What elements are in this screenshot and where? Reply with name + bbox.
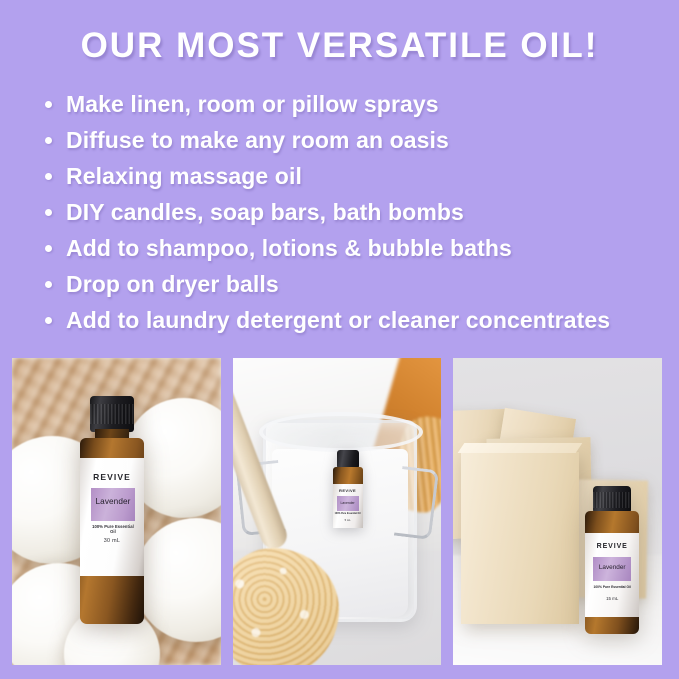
variant-swatch: Lavender bbox=[593, 557, 631, 581]
bottle-cap bbox=[593, 486, 631, 514]
list-item: Add to shampoo, lotions & bubble baths bbox=[40, 230, 670, 266]
soap-bar bbox=[461, 452, 579, 624]
list-item: Drop on dryer balls bbox=[40, 266, 670, 302]
benefits-list: Make linen, room or pillow sprays Diffus… bbox=[40, 86, 670, 338]
bottle-cap bbox=[90, 396, 134, 432]
variant-name: Lavender bbox=[91, 497, 135, 506]
bullet-dot-icon bbox=[45, 173, 52, 180]
benefit-text: Relaxing massage oil bbox=[66, 163, 302, 189]
benefit-text: Add to shampoo, lotions & bubble baths bbox=[66, 235, 512, 261]
oil-bottle-30ml: REVIVE Lavender 100% Pure Essential Oil … bbox=[78, 396, 146, 624]
list-item: Make linen, room or pillow sprays bbox=[40, 86, 670, 122]
benefit-text: DIY candles, soap bars, bath bombs bbox=[66, 199, 464, 225]
list-item: DIY candles, soap bars, bath bombs bbox=[40, 194, 670, 230]
bottle-label: REVIVE Lavender 100% Pure Essential Oil … bbox=[333, 484, 363, 528]
product-photo-strip: REVIVE Lavender 100% Pure Essential Oil … bbox=[12, 358, 662, 665]
list-item: Relaxing massage oil bbox=[40, 158, 670, 194]
jar-rim bbox=[259, 412, 423, 452]
bullet-dot-icon bbox=[45, 101, 52, 108]
list-item: Add to laundry detergent or cleaner conc… bbox=[40, 302, 670, 338]
benefit-text: Make linen, room or pillow sprays bbox=[66, 91, 439, 117]
brand-name: REVIVE bbox=[585, 543, 639, 550]
purity-text: 100% Pure Essential Oil bbox=[89, 524, 137, 534]
photo-dryer-balls: REVIVE Lavender 100% Pure Essential Oil … bbox=[12, 358, 221, 665]
brand-name: REVIVE bbox=[333, 488, 363, 493]
size-text: 5 mL bbox=[333, 519, 363, 522]
list-item: Diffuse to make any room an oasis bbox=[40, 122, 670, 158]
bullet-dot-icon bbox=[45, 209, 52, 216]
bullet-dot-icon bbox=[45, 137, 52, 144]
page-title: OUR MOST VERSATILE OIL! bbox=[0, 26, 679, 66]
brand-name: REVIVE bbox=[80, 472, 144, 482]
purity-text: 100% Pure Essential Oil bbox=[591, 585, 633, 589]
variant-name: Lavender bbox=[337, 501, 359, 505]
oil-bottle-15ml: REVIVE Lavender 100% Pure Essential Oil … bbox=[585, 486, 639, 634]
photo-bath-salt-jar: REVIVE Lavender 100% Pure Essential Oil … bbox=[233, 358, 442, 665]
bottle-label: REVIVE Lavender 100% Pure Essential Oil … bbox=[585, 533, 639, 617]
benefit-text: Diffuse to make any room an oasis bbox=[66, 127, 449, 153]
bottle-label: REVIVE Lavender 100% Pure Essential Oil … bbox=[80, 458, 144, 576]
variant-name: Lavender bbox=[593, 564, 631, 571]
bullet-dot-icon bbox=[45, 245, 52, 252]
purity-text: 100% Pure Essential Oil bbox=[333, 513, 363, 515]
bullet-dot-icon bbox=[45, 281, 52, 288]
product-benefits-infographic: OUR MOST VERSATILE OIL! Make linen, room… bbox=[0, 0, 679, 679]
variant-swatch: Lavender bbox=[337, 496, 359, 511]
size-text: 15 mL bbox=[585, 596, 639, 601]
size-text: 30 mL bbox=[80, 538, 144, 544]
benefit-text: Add to laundry detergent or cleaner conc… bbox=[66, 307, 610, 333]
oil-bottle-5ml: REVIVE Lavender 100% Pure Essential Oil … bbox=[333, 450, 363, 528]
bullet-dot-icon bbox=[45, 317, 52, 324]
benefit-text: Drop on dryer balls bbox=[66, 271, 279, 297]
variant-swatch: Lavender bbox=[91, 488, 135, 521]
photo-soap-bars: REVIVE Lavender 100% Pure Essential Oil … bbox=[453, 358, 662, 665]
